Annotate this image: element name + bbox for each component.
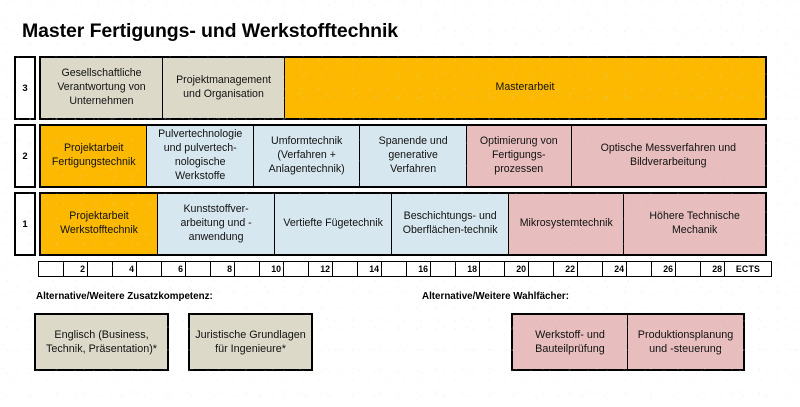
ects-tick-10: 10 xyxy=(260,262,285,276)
module-cell[interactable]: Mikrosystemtechnik xyxy=(509,194,624,254)
module-cell[interactable]: Projektarbeit Fertigungstechnik xyxy=(41,126,147,186)
footer-module-box[interactable]: Juristische Grundlagen für Ingenieure* xyxy=(188,313,313,371)
ects-unit-label: ECTS xyxy=(725,262,771,276)
ects-tick-blank xyxy=(578,262,603,276)
module-cell[interactable]: Kunststoffver-arbeitung und -anwendung xyxy=(158,194,275,254)
ects-tick-18: 18 xyxy=(456,262,481,276)
ects-tick-8: 8 xyxy=(211,262,236,276)
footer-module-box[interactable]: Produktionsplanung und -steuerung xyxy=(628,313,745,371)
semester-number-2: 2 xyxy=(14,124,36,188)
ects-tick-blank xyxy=(284,262,309,276)
ects-tick-blank xyxy=(235,262,260,276)
semester-row-3: 3 Gesellschaftliche Verantwortung von Un… xyxy=(14,56,767,120)
module-cell[interactable]: Umformtechnik (Verfahren + Anlagentechni… xyxy=(254,126,360,186)
module-cell[interactable]: Pulvertechnologie und pulvertech-nologis… xyxy=(147,126,253,186)
semester-number-1: 1 xyxy=(14,192,36,256)
ects-tick-16: 16 xyxy=(407,262,432,276)
ects-tick-blank xyxy=(186,262,211,276)
module-cell[interactable]: Höhere Technische Mechanik xyxy=(624,194,765,254)
page-title: Master Fertigungs- und Werkstofftechnik xyxy=(22,20,398,43)
ects-tick-26: 26 xyxy=(652,262,677,276)
ects-tick-blank xyxy=(529,262,554,276)
module-cell[interactable]: Projektarbeit Werkstofftechnik xyxy=(41,194,158,254)
ects-tick-blank xyxy=(627,262,652,276)
footer-group-zusatzkompetenz: Englisch (Business, Technik, Präsentatio… xyxy=(34,313,313,371)
module-cell[interactable]: Optische Messverfahren und Bildverarbeit… xyxy=(572,126,765,186)
semester-number-3: 3 xyxy=(14,56,36,120)
module-cell[interactable]: Projektmanagement und Organisation xyxy=(163,58,285,118)
ects-tick-24: 24 xyxy=(603,262,628,276)
ects-tick-blank xyxy=(88,262,113,276)
ects-tick-blank xyxy=(676,262,701,276)
module-track-semester-3: Gesellschaftliche Verantwortung von Unte… xyxy=(39,56,767,120)
ects-tick-2: 2 xyxy=(64,262,89,276)
ects-tick-blank xyxy=(39,262,64,276)
module-cell[interactable]: Beschichtungs- und Oberflächen-technik xyxy=(392,194,509,254)
module-track-semester-1: Projektarbeit Werkstofftechnik Kunststof… xyxy=(39,192,767,256)
module-cell[interactable]: Spanende und generative Verfahren xyxy=(360,126,466,186)
semester-row-1: 1 Projektarbeit Werkstofftechnik Kunstst… xyxy=(14,192,767,256)
ects-tick-28: 28 xyxy=(701,262,726,276)
module-cell[interactable]: Gesellschaftliche Verantwortung von Unte… xyxy=(41,58,163,118)
ects-tick-blank xyxy=(431,262,456,276)
ects-tick-4: 4 xyxy=(113,262,138,276)
footer-heading-wahlfaecher: Alternative/Weitere Wahlfächer: xyxy=(422,291,569,302)
ects-tick-22: 22 xyxy=(554,262,579,276)
ects-tick-20: 20 xyxy=(505,262,530,276)
module-cell[interactable]: Optimierung von Fertigungs-prozessen xyxy=(467,126,572,186)
ects-tick-6: 6 xyxy=(162,262,187,276)
footer-module-box[interactable]: Werkstoff- und Bauteilprüfung xyxy=(511,313,628,371)
ects-scale: 246810121416182022242628ECTS xyxy=(38,261,772,277)
ects-tick-14: 14 xyxy=(358,262,383,276)
footer-heading-zusatzkompetenz: Alternative/Weitere Zusatzkompetenz: xyxy=(36,291,213,302)
footer-group-wahlfaecher: Werkstoff- und Bauteilprüfung Produktion… xyxy=(511,313,745,371)
ects-tick-blank xyxy=(333,262,358,276)
semester-row-2: 2 Projektarbeit Fertigungstechnik Pulver… xyxy=(14,124,767,188)
module-cell[interactable]: Masterarbeit xyxy=(285,58,765,118)
footer-module-box[interactable]: Englisch (Business, Technik, Präsentatio… xyxy=(34,313,169,371)
module-cell[interactable]: Vertiefte Fügetechnik xyxy=(275,194,392,254)
ects-tick-blank xyxy=(382,262,407,276)
ects-tick-blank xyxy=(137,262,162,276)
ects-tick-blank xyxy=(480,262,505,276)
module-track-semester-2: Projektarbeit Fertigungstechnik Pulverte… xyxy=(39,124,767,188)
ects-tick-12: 12 xyxy=(309,262,334,276)
